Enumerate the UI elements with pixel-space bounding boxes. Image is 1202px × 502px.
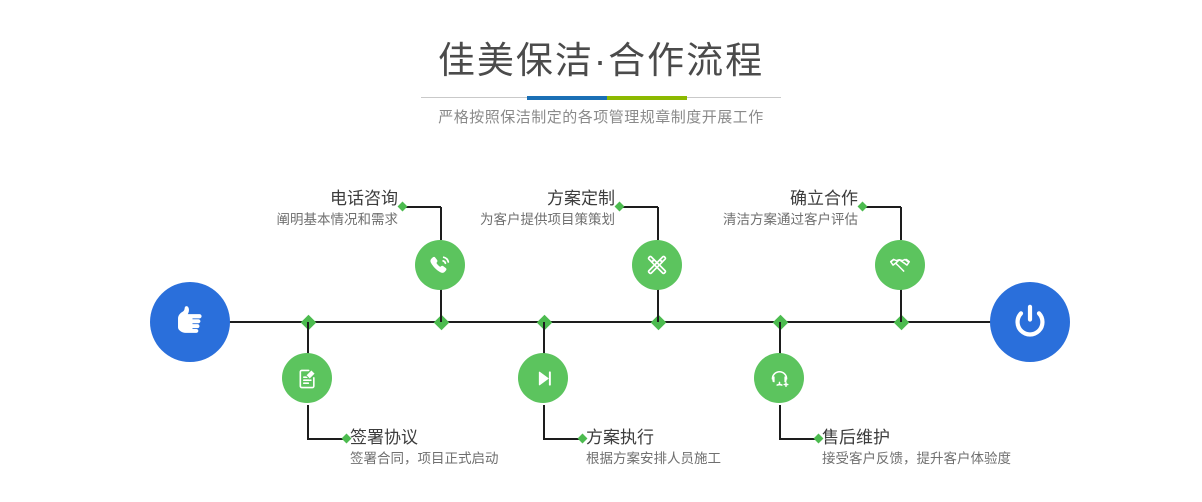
stem-step-3 (657, 289, 659, 322)
label-step-3-desc: 为客户提供项目策策划 (370, 210, 615, 230)
headset-support-icon (766, 365, 793, 392)
label-step-5: 确立合作 清洁方案通过客户评估 (620, 188, 858, 230)
connector-step-2 (307, 438, 344, 439)
stem-step-4 (543, 322, 545, 355)
connector-step-6 (779, 438, 816, 439)
label-step-1-desc: 阐明基本情况和需求 (150, 210, 398, 230)
label-step-6-desc: 接受客户反馈，提升客户体验度 (822, 449, 1112, 469)
node-step-4[interactable] (518, 353, 568, 403)
power-icon (1008, 300, 1052, 344)
stem-step-1 (440, 289, 442, 322)
process-flow-infographic: 佳美保洁·合作流程 严格按照保洁制定的各项管理规章制度开展工作 (0, 0, 1202, 502)
timeline-end-node[interactable] (990, 282, 1070, 362)
stem-step-6 (779, 322, 781, 355)
play-execute-icon (530, 365, 557, 392)
node-step-6[interactable] (754, 353, 804, 403)
phone-call-icon (426, 251, 454, 279)
stem-step-5-upper (900, 207, 902, 240)
label-step-3: 方案定制 为客户提供项目策策划 (370, 188, 615, 230)
label-step-5-title: 确立合作 (620, 188, 858, 210)
stem-step-2-lower (307, 405, 309, 439)
node-step-5[interactable] (875, 240, 925, 290)
stem-step-5 (900, 289, 902, 322)
label-step-5-desc: 清洁方案通过客户评估 (620, 210, 858, 230)
sign-document-icon (294, 365, 321, 392)
label-step-6-title: 售后维护 (822, 427, 1112, 449)
node-step-1[interactable] (415, 240, 465, 290)
label-step-1: 电话咨询 阐明基本情况和需求 (150, 188, 398, 230)
pencil-ruler-icon (643, 251, 671, 279)
node-step-2[interactable] (282, 353, 332, 403)
stem-step-4-lower (543, 405, 545, 439)
stem-step-2 (307, 322, 309, 355)
label-step-4: 方案执行 根据方案安排人员施工 (586, 427, 856, 469)
label-step-6: 售后维护 接受客户反馈，提升客户体验度 (822, 427, 1112, 469)
page-title: 佳美保洁·合作流程 (0, 38, 1202, 84)
label-step-2-desc: 签署合同，项目正式启动 (350, 449, 610, 469)
divider-segment-blue (527, 96, 607, 100)
label-diamond-step-5 (858, 202, 868, 212)
connector-step-4 (543, 438, 580, 439)
label-step-1-title: 电话咨询 (150, 188, 398, 210)
handshake-icon (886, 251, 914, 279)
label-step-3-title: 方案定制 (370, 188, 615, 210)
node-step-3[interactable] (632, 240, 682, 290)
divider-segment-green (607, 96, 687, 100)
timeline-start-node[interactable] (150, 282, 230, 362)
thumb-point-icon (167, 299, 213, 345)
connector-step-5 (864, 206, 901, 207)
page-subtitle: 严格按照保洁制定的各项管理规章制度开展工作 (0, 107, 1202, 129)
label-step-4-desc: 根据方案安排人员施工 (586, 449, 856, 469)
title-divider (421, 96, 781, 100)
label-step-2: 签署协议 签署合同，项目正式启动 (350, 427, 610, 469)
stem-step-6-lower (779, 405, 781, 439)
